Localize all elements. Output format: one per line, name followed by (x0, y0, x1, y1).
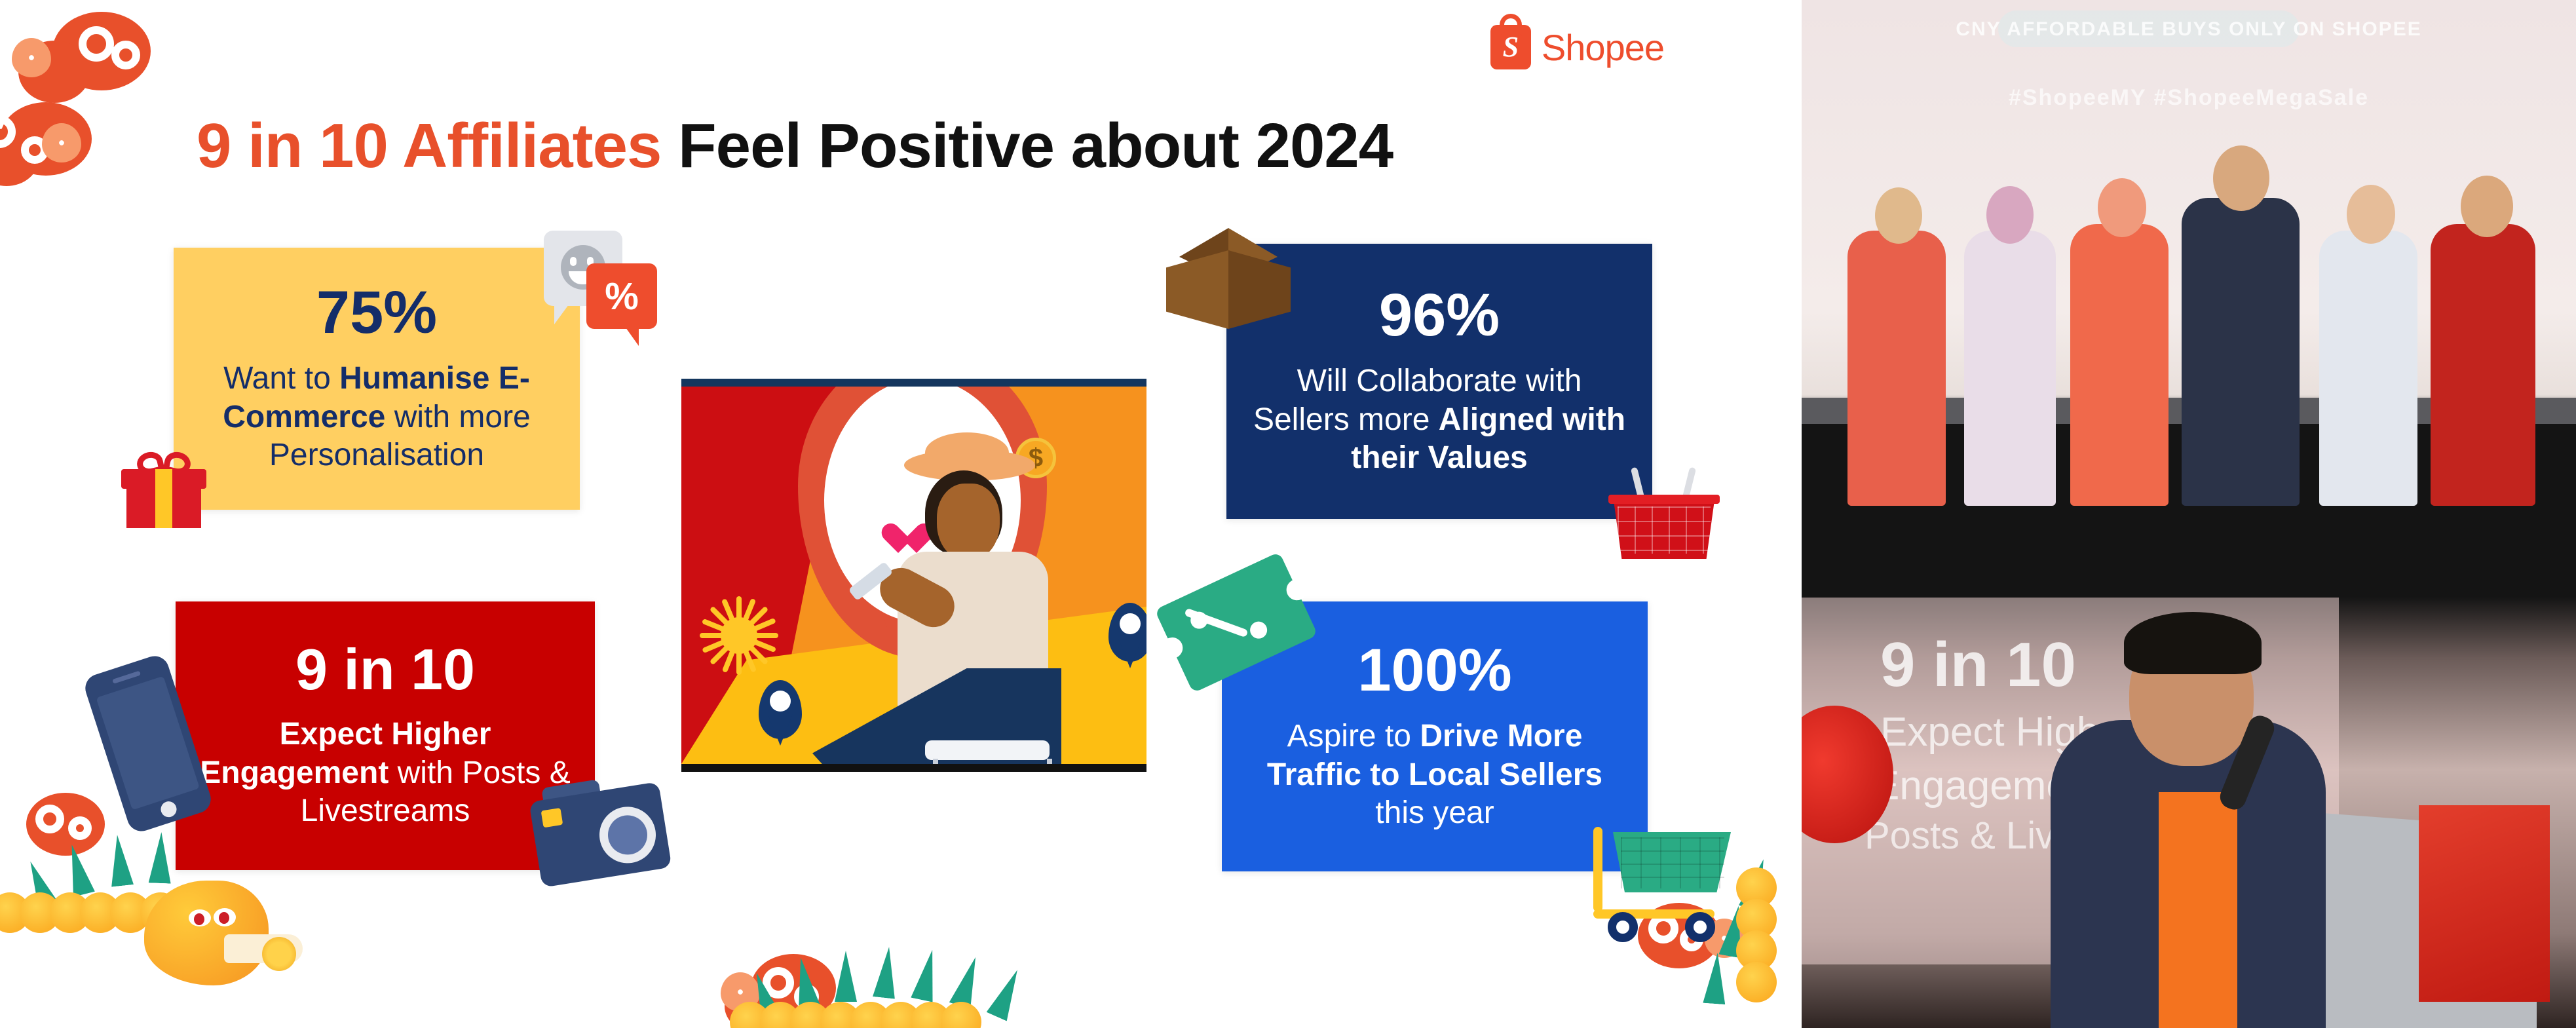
page-title: 9 in 10 Affiliates Feel Positive about 2… (197, 110, 1393, 182)
heart-icon (881, 524, 917, 557)
desc-pre: Want to (223, 361, 339, 396)
cny-cloud-motif (0, 98, 105, 190)
person-figure (2319, 231, 2417, 506)
person-figure (1847, 231, 1946, 506)
cny-cloud-motif (7, 7, 151, 105)
stat-description: Aspire to Drive More Traffic to Local Se… (1244, 717, 1625, 833)
shopping-cart-icon (1593, 832, 1737, 940)
stool-icon (925, 740, 1050, 760)
percent-symbol: % (586, 263, 657, 329)
content-panel: S Shopee 9 in 10 Affiliates Feel Positiv… (0, 0, 1802, 1028)
shopee-spokesperson-at-podium-photo: 9 in 10 Expect Higher Engagement Posts &… (1802, 598, 2576, 1028)
speaker-shirt (2159, 792, 2237, 1028)
person-head (2461, 176, 2513, 237)
shopping-basket-icon (1608, 475, 1720, 559)
page-title-highlight: 9 in 10 Affiliates (197, 111, 661, 181)
person-head (2213, 145, 2269, 211)
cardboard-box-icon (1166, 228, 1291, 346)
stat-value: 75% (316, 282, 437, 343)
stat-description: Expect Higher Engagement with Posts & Li… (198, 715, 573, 831)
person-head (2098, 178, 2146, 237)
person-figure (2431, 224, 2535, 506)
person-figure (2070, 224, 2169, 506)
photo-screen-hashtags: #ShopeeMY #ShopeeMegaSale (1802, 85, 2576, 111)
person-head (1875, 187, 1922, 244)
photo-screen-headline: CNY AFFORDABLE BUYS ONLY ON SHOPEE (1802, 18, 2576, 41)
stat-description: Will Collaborate with Sellers more Align… (1249, 362, 1630, 478)
desc-post: this year (1375, 795, 1494, 830)
chat-bubble-percent-icon: % (586, 263, 657, 329)
shopee-logo: S Shopee (1490, 25, 1664, 69)
sun-icon (700, 596, 778, 675)
camera-icon (527, 770, 672, 887)
gift-box-icon (121, 451, 206, 528)
infographic-slide: S Shopee 9 in 10 Affiliates Feel Positiv… (0, 0, 2576, 1028)
shopee-wordmark: Shopee (1542, 26, 1664, 69)
stat-value: 9 in 10 (295, 641, 475, 698)
person-figure (1964, 231, 2056, 506)
stat-value: 100% (1357, 640, 1511, 700)
person-figure (2182, 198, 2300, 506)
stat-description: Want to Humanise E-Commerce with more Pe… (196, 360, 558, 475)
podium-artwork (2419, 805, 2550, 1002)
affiliate-with-phone-illustration: $ (681, 379, 1146, 772)
photo-column: CNY AFFORDABLE BUYS ONLY ON SHOPEE #Shop… (1802, 0, 2576, 1028)
plum-blossom-icon (12, 38, 51, 77)
screen-stat: 9 in 10 (1880, 629, 2076, 701)
shopee-bag-icon: S (1490, 25, 1531, 69)
desc-pre: Aspire to (1287, 719, 1420, 753)
plum-blossom-icon (42, 123, 81, 162)
shopee-logo-letter: S (1490, 25, 1531, 69)
stat-card-engagement: 9 in 10 Expect Higher Engagement with Po… (176, 601, 595, 870)
person-head (1986, 186, 2034, 244)
shopee-launch-group-photo: CNY AFFORDABLE BUYS ONLY ON SHOPEE #Shop… (1802, 0, 2576, 598)
page-title-rest: Feel Positive about 2024 (661, 111, 1393, 181)
person-head (2347, 185, 2395, 244)
stat-card-humanise: 75% Want to Humanise E-Commerce with mor… (174, 248, 580, 510)
speaker-hair (2124, 612, 2262, 674)
stat-value: 96% (1379, 285, 1500, 345)
cny-dragon-motif (734, 953, 1074, 1028)
